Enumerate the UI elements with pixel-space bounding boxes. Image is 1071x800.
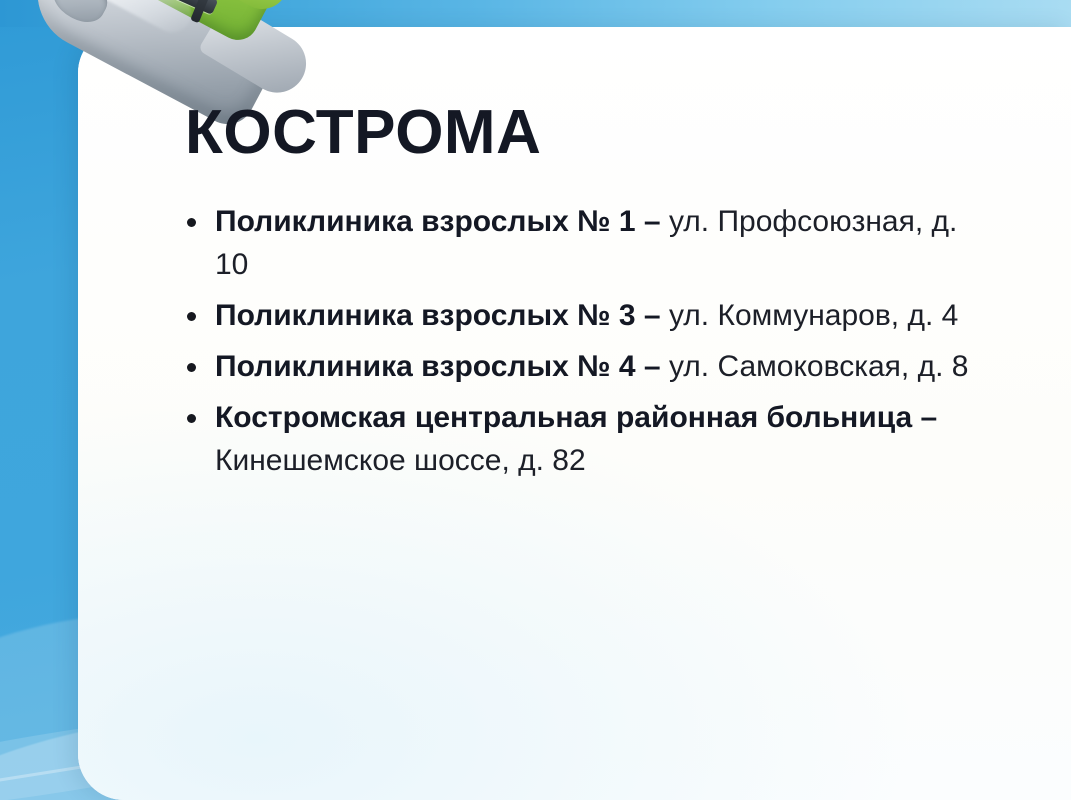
list-item: Поликлиника взрослых № 1 – ул. Профсоюзн…: [185, 201, 975, 287]
top-blue-band: [0, 0, 1071, 27]
presentation-slide: КОСТРОМА Поликлиника взрослых № 1 – ул. …: [0, 0, 1071, 800]
list-item: Поликлиника взрослых № 4 – ул. Самоковск…: [185, 346, 975, 389]
facility-dash: –: [644, 299, 661, 332]
list-item: Поликлиника взрослых № 3 – ул. Коммунаро…: [185, 295, 975, 338]
facility-name: Поликлиника взрослых № 3: [215, 299, 636, 332]
facility-name: Костромская центральная районная больниц…: [215, 401, 912, 434]
page-title: КОСТРОМА: [185, 100, 985, 165]
slide-content: КОСТРОМА Поликлиника взрослых № 1 – ул. …: [185, 100, 985, 490]
facility-address: Кинешемское шоссе, д. 82: [215, 444, 586, 477]
facility-list: Поликлиника взрослых № 1 – ул. Профсоюзн…: [185, 201, 985, 482]
facility-name: Поликлиника взрослых № 4: [215, 350, 636, 383]
facility-dash: –: [644, 205, 661, 238]
facility-address: ул. Самоковская, д. 8: [669, 350, 969, 383]
facility-dash: –: [921, 401, 938, 434]
facility-dash: –: [644, 350, 661, 383]
facility-name: Поликлиника взрослых № 1: [215, 205, 636, 238]
bullet-icon: [187, 414, 196, 423]
bullet-icon: [187, 363, 196, 372]
bullet-icon: [187, 312, 196, 321]
list-item: Костромская центральная районная больниц…: [185, 397, 975, 483]
facility-address: ул. Коммунаров, д. 4: [669, 299, 958, 332]
bullet-icon: [187, 218, 196, 227]
